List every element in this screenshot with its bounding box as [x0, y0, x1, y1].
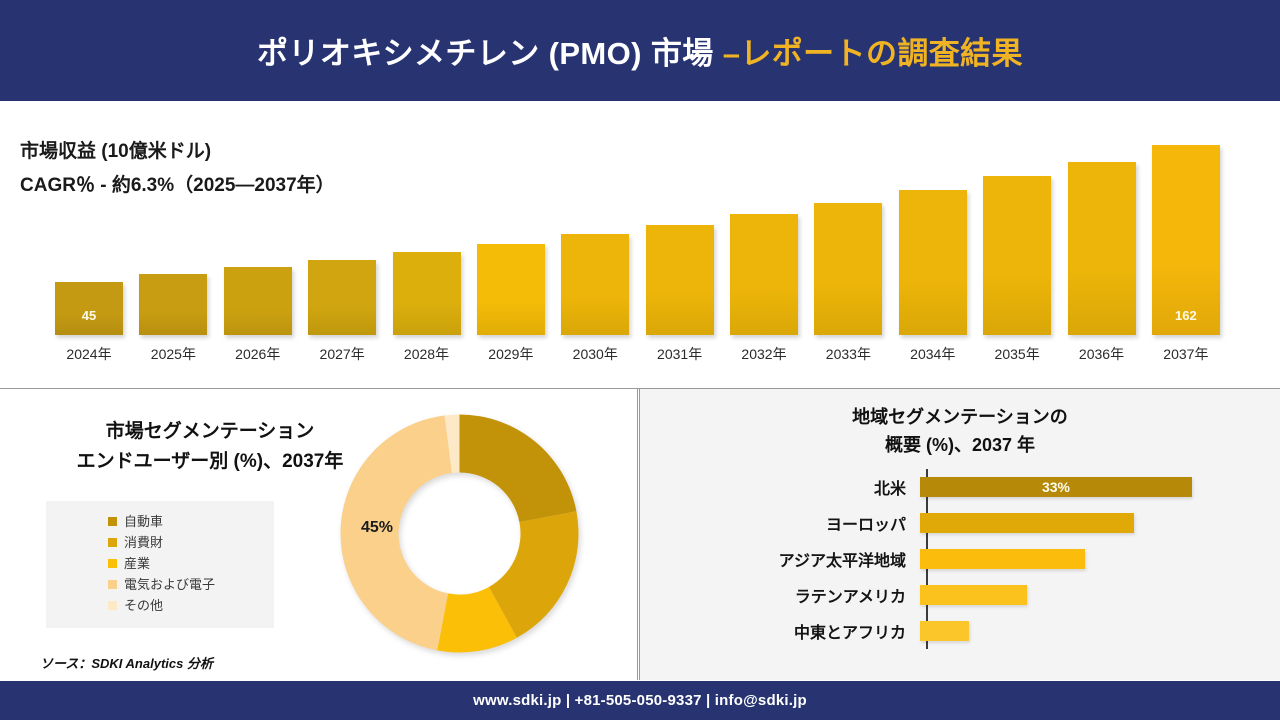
bar-category-label: 2024年: [66, 344, 111, 364]
region-title: 地域セグメンテーションの 概要 (%)、2037 年: [640, 403, 1280, 459]
legend-swatch-icon: [108, 517, 117, 526]
legend-item: 消費財: [108, 532, 262, 553]
region-bar: [920, 621, 969, 641]
bar-category-label: 2025年: [151, 344, 196, 364]
bar: 2031年: [646, 225, 714, 335]
bar-column: 2028年: [393, 130, 461, 335]
bar: 2032年: [730, 214, 798, 335]
legend-item-label: 消費財: [124, 532, 163, 553]
region-bar: 33%: [920, 477, 1192, 497]
region-bar-row: アジア太平洋地域: [640, 544, 1280, 574]
donut-legend: 自動車消費財産業電気および電子その他: [46, 501, 274, 628]
bar: 2030年: [561, 234, 629, 335]
legend-swatch-icon: [108, 538, 117, 547]
bar: 2035年: [983, 176, 1051, 335]
bar-category-label: 2028年: [404, 344, 449, 364]
bar: 1622037年: [1152, 145, 1220, 335]
legend-item: 自動車: [108, 511, 262, 532]
donut-center-label: 45%: [361, 519, 393, 537]
bar: 452024年: [55, 282, 123, 335]
bar-value-label: 162: [1152, 308, 1220, 323]
end-user-segmentation-panel: 市場セグメンテーション エンドユーザー別 (%)、2037年 自動車消費財産業電…: [0, 389, 638, 680]
bar-category-label: 2031年: [657, 344, 702, 364]
bar-category-label: 2027年: [320, 344, 365, 364]
bar-category-label: 2035年: [995, 344, 1040, 364]
bar-category-label: 2030年: [573, 344, 618, 364]
region-title-line1: 地域セグメンテーションの: [640, 403, 1280, 431]
legend-item-label: 電気および電子: [124, 574, 215, 595]
bar-category-label: 2034年: [910, 344, 955, 364]
region-bar-row: 中東とアフリカ: [640, 616, 1280, 646]
region-bar: [920, 549, 1085, 569]
bar-column: 2032年: [730, 130, 798, 335]
region-category-label: ラテンアメリカ: [640, 583, 920, 607]
region-bar-row: ラテンアメリカ: [640, 580, 1280, 610]
bar-category-label: 2032年: [741, 344, 786, 364]
legend-item: 電気および電子: [108, 574, 262, 595]
bar-column: 2031年: [646, 130, 714, 335]
bar-column: 2036年: [1068, 130, 1136, 335]
bar-category-label: 2026年: [235, 344, 280, 364]
page-title-accent: –レポートの調査結果: [723, 36, 1023, 71]
page-title: ポリオキシメチレン (PMO) 市場 –レポートの調査結果: [257, 28, 1023, 73]
market-revenue-bar-chart: 452024年2025年2026年2027年2028年2029年2030年203…: [55, 105, 1220, 375]
page-footer: www.sdki.jp | +81-505-050-9337 | info@sd…: [0, 681, 1280, 720]
bar: 2025年: [139, 274, 207, 335]
bar-value-label: 45: [55, 308, 123, 323]
bar-category-label: 2029年: [488, 344, 533, 364]
region-category-label: 北米: [640, 475, 920, 499]
bar: 2026年: [224, 267, 292, 335]
market-revenue-section: 市場収益 (10億米ドル) CAGR％ - 約6.3%（2025―2037年） …: [0, 105, 1280, 387]
bar: 2029年: [477, 244, 545, 335]
bar-column: 2026年: [224, 130, 292, 335]
bar-column: 2029年: [477, 130, 545, 335]
bar-category-label: 2033年: [826, 344, 871, 364]
legend-item: その他: [108, 595, 262, 616]
bar-column: 2030年: [561, 130, 629, 335]
bar: 2034年: [899, 190, 967, 335]
bar: 2036年: [1068, 162, 1136, 335]
bar-category-label: 2037年: [1163, 344, 1208, 364]
bar: 2028年: [393, 252, 461, 335]
region-bar-row: 北米33%: [640, 472, 1280, 502]
legend-swatch-icon: [108, 580, 117, 589]
bar-column: 2027年: [308, 130, 376, 335]
page-title-main: ポリオキシメチレン (PMO) 市場: [257, 36, 723, 71]
footer-contact: www.sdki.jp | +81-505-050-9337 | info@sd…: [473, 692, 807, 709]
region-segmentation-panel: 地域セグメンテーションの 概要 (%)、2037 年 北米33%ヨーロッパアジア…: [639, 389, 1280, 680]
region-bar-chart: 北米33%ヨーロッパアジア太平洋地域ラテンアメリカ中東とアフリカ: [640, 469, 1280, 649]
donut-slice: [460, 415, 577, 523]
region-bar-series: 北米33%ヨーロッパアジア太平洋地域ラテンアメリカ中東とアフリカ: [640, 469, 1280, 649]
region-bar-row: ヨーロッパ: [640, 508, 1280, 538]
legend-swatch-icon: [108, 601, 117, 610]
bar-column: 2035年: [983, 130, 1051, 335]
bar: 2033年: [814, 203, 882, 335]
bar-column: 452024年: [55, 130, 123, 335]
region-title-line2: 概要 (%)、2037 年: [640, 431, 1280, 459]
region-bar: [920, 513, 1134, 533]
region-category-label: アジア太平洋地域: [640, 547, 920, 571]
page-header: ポリオキシメチレン (PMO) 市場 –レポートの調査結果: [0, 0, 1280, 101]
bar-column: 2025年: [139, 130, 207, 335]
legend-swatch-icon: [108, 559, 117, 568]
bar-column: 2033年: [814, 130, 882, 335]
legend-item: 産業: [108, 553, 262, 574]
bar-column: 2034年: [899, 130, 967, 335]
bar-series: 452024年2025年2026年2027年2028年2029年2030年203…: [55, 130, 1220, 335]
legend-item-label: その他: [124, 595, 163, 616]
legend-item-label: 自動車: [124, 511, 163, 532]
donut-slice: [340, 415, 451, 650]
region-category-label: 中東とアフリカ: [640, 619, 920, 643]
legend-item-label: 産業: [124, 553, 150, 574]
region-bar-value-label: 33%: [920, 479, 1192, 495]
bar: 2027年: [308, 260, 376, 335]
bar-category-label: 2036年: [1079, 344, 1124, 364]
region-category-label: ヨーロッパ: [640, 511, 920, 535]
donut-chart: 45%: [337, 411, 582, 656]
source-note: ソース：SDKI Analytics 分析: [40, 653, 213, 672]
region-bar: [920, 585, 1027, 605]
bar-column: 1622037年: [1152, 130, 1220, 335]
infographic-page: ポリオキシメチレン (PMO) 市場 –レポートの調査結果 市場収益 (10億米…: [0, 0, 1280, 720]
